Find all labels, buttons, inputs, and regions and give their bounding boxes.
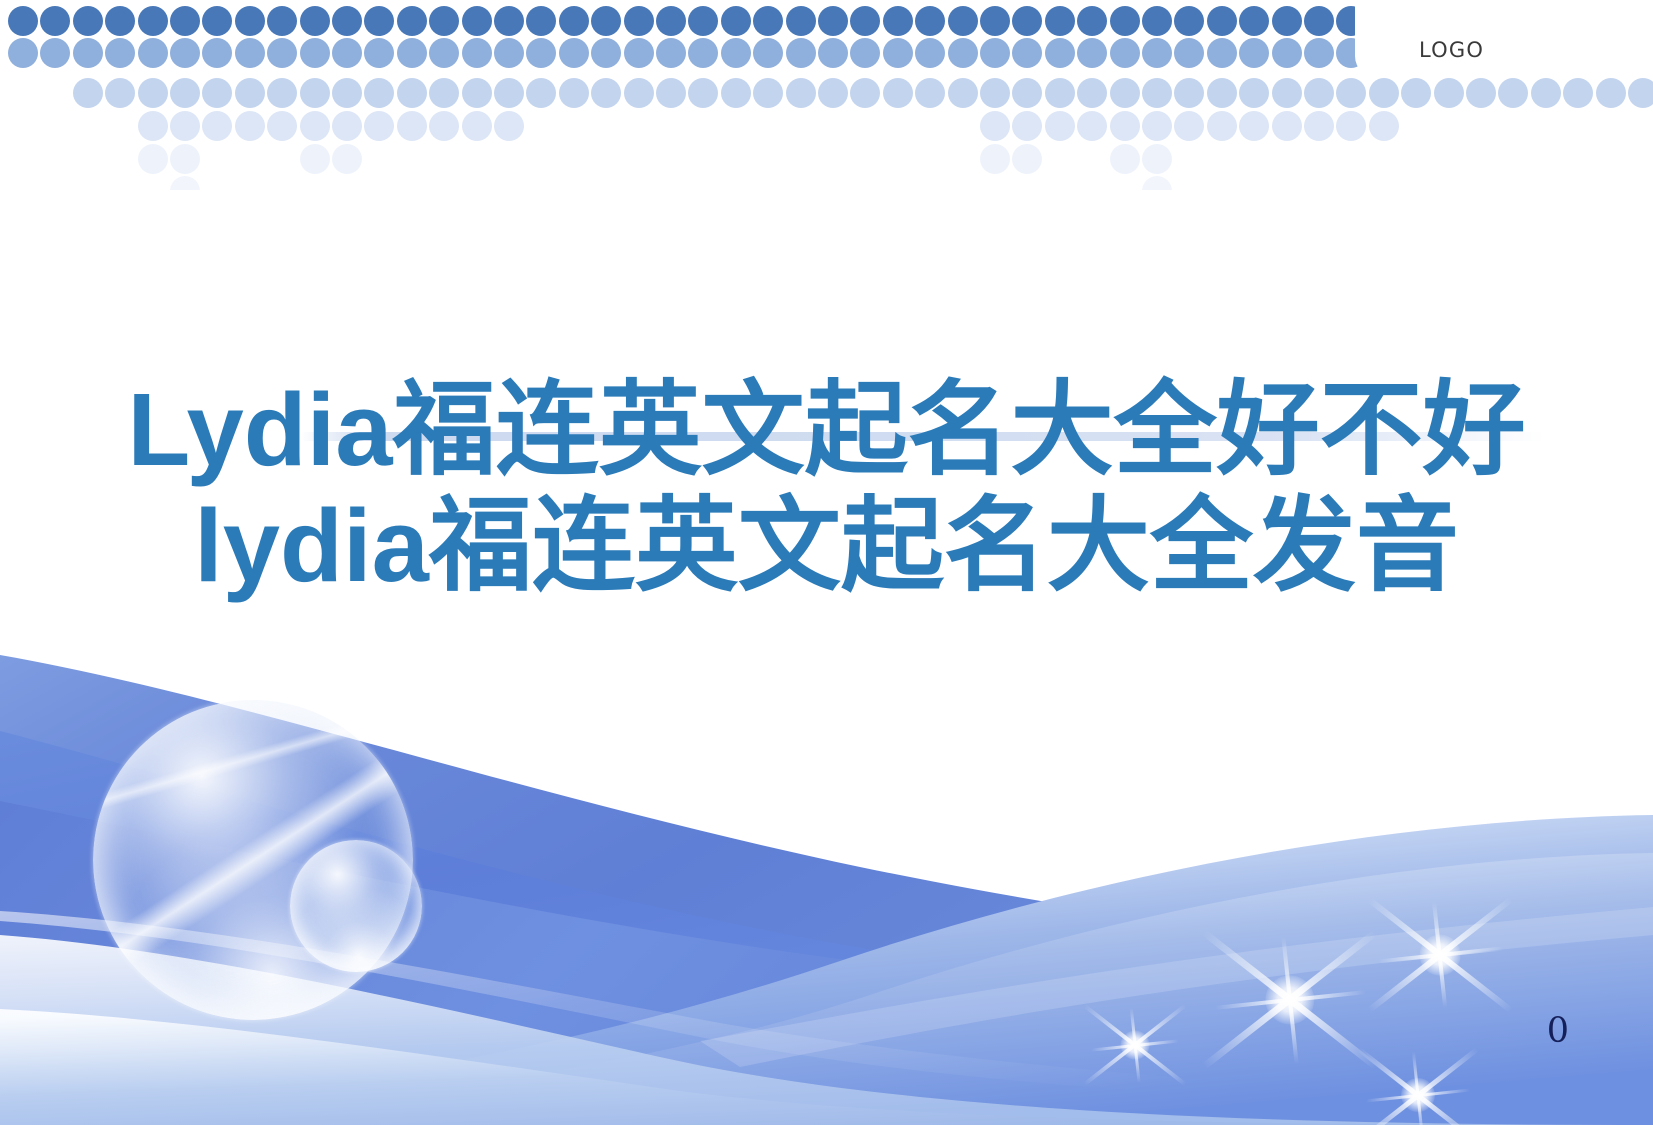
- decorative-dot: [1045, 6, 1075, 36]
- decorative-dot: [948, 78, 978, 108]
- decorative-dot: [73, 38, 103, 68]
- title-line-2: lydia福连英文起名大全发音: [0, 488, 1653, 604]
- decorative-dot: [526, 6, 556, 36]
- decorative-dot: [332, 38, 362, 68]
- decorative-dot: [1077, 38, 1107, 68]
- decorative-dot: [300, 111, 330, 141]
- decorative-dot: [883, 38, 913, 68]
- decorative-dot: [73, 6, 103, 36]
- decorative-dot: [1077, 111, 1107, 141]
- decorative-dot: [1142, 176, 1172, 190]
- decorative-dot: [526, 38, 556, 68]
- decorative-dot: [397, 38, 427, 68]
- decorative-dot: [786, 78, 816, 108]
- decorative-dot: [364, 111, 394, 141]
- decorative-dot: [1239, 38, 1269, 68]
- decorative-dot: [1596, 78, 1626, 108]
- decorative-dot: [980, 111, 1010, 141]
- decorative-dot: [1012, 6, 1042, 36]
- glass-bubble-small: [290, 840, 422, 972]
- decorative-dot: [688, 38, 718, 68]
- decorative-dot: [267, 38, 297, 68]
- decorative-dot: [948, 6, 978, 36]
- decorative-dot: [138, 78, 168, 108]
- decorative-dot: [202, 6, 232, 36]
- decorative-dot: [688, 6, 718, 36]
- decorative-dot: [267, 111, 297, 141]
- decorative-dot: [1045, 111, 1075, 141]
- decorative-dot: [202, 38, 232, 68]
- decorative-dot: [1142, 111, 1172, 141]
- decorative-dot: [688, 78, 718, 108]
- logo-placeholder[interactable]: LOGO: [1355, 0, 1653, 78]
- decorative-dot: [850, 38, 880, 68]
- decorative-dot: [300, 38, 330, 68]
- decorative-dot: [494, 6, 524, 36]
- decorative-dot: [1012, 111, 1042, 141]
- decorative-dot: [1336, 78, 1366, 108]
- decorative-dot: [1077, 78, 1107, 108]
- decorative-dot: [1628, 78, 1653, 108]
- title-line-1: Lydia福连英文起名大全好不好: [0, 372, 1653, 488]
- decorative-dot: [1045, 38, 1075, 68]
- decorative-dot: [300, 144, 330, 174]
- decorative-dot: [267, 6, 297, 36]
- decorative-dot: [786, 6, 816, 36]
- decorative-dot: [1142, 6, 1172, 36]
- decorative-dot: [1110, 78, 1140, 108]
- decorative-dot: [138, 111, 168, 141]
- slide-canvas: LOGO Lydia福连英文起名大全好不好 lydia福连英文起名大全发音: [0, 0, 1653, 1125]
- decorative-dot: [818, 6, 848, 36]
- decorative-dot: [1369, 78, 1399, 108]
- decorative-dot: [8, 38, 38, 68]
- decorative-dot: [1466, 78, 1496, 108]
- decorative-dot: [494, 111, 524, 141]
- decorative-dot: [1045, 78, 1075, 108]
- decorative-dot: [1272, 6, 1302, 36]
- decorative-dot: [332, 6, 362, 36]
- decorative-dot: [1304, 38, 1334, 68]
- decorative-dot: [138, 144, 168, 174]
- decorative-dot: [1142, 144, 1172, 174]
- decorative-dot: [624, 38, 654, 68]
- decorative-dot: [170, 78, 200, 108]
- decorative-dot: [332, 144, 362, 174]
- decorative-dot: [332, 111, 362, 141]
- decorative-dot: [818, 78, 848, 108]
- decorative-dot: [721, 78, 751, 108]
- decorative-dot: [267, 78, 297, 108]
- decorative-dot: [624, 78, 654, 108]
- decorative-dot: [397, 78, 427, 108]
- decorative-dot: [1012, 144, 1042, 174]
- decorative-dot: [1012, 38, 1042, 68]
- decorative-dot: [235, 38, 265, 68]
- decorative-dot: [138, 38, 168, 68]
- decorative-dot: [364, 38, 394, 68]
- decorative-dot: [559, 6, 589, 36]
- decorative-dot: [1110, 6, 1140, 36]
- decorative-dot: [850, 6, 880, 36]
- decorative-dot: [624, 6, 654, 36]
- decorative-dot: [170, 6, 200, 36]
- decorative-dot: [559, 78, 589, 108]
- decorative-dot: [1272, 78, 1302, 108]
- decorative-dot: [1174, 111, 1204, 141]
- decorative-dot: [1239, 111, 1269, 141]
- decorative-dot: [1012, 78, 1042, 108]
- decorative-dot: [1142, 38, 1172, 68]
- decorative-dot: [1207, 78, 1237, 108]
- decorative-dot: [526, 78, 556, 108]
- decorative-dot: [300, 78, 330, 108]
- decorative-dot: [1434, 78, 1464, 108]
- logo-label: LOGO: [1419, 38, 1484, 62]
- decorative-dot: [656, 6, 686, 36]
- decorative-dot: [1272, 38, 1302, 68]
- decorative-dot: [1207, 111, 1237, 141]
- decorative-dot: [1304, 78, 1334, 108]
- decorative-dot: [8, 6, 38, 36]
- decorative-dot: [1207, 38, 1237, 68]
- decorative-dot: [1239, 6, 1269, 36]
- decorative-dot: [1142, 78, 1172, 108]
- decorative-dot: [40, 6, 70, 36]
- decorative-dot: [429, 111, 459, 141]
- decorative-dot: [1110, 111, 1140, 141]
- decorative-dot: [915, 38, 945, 68]
- decorative-dot: [429, 78, 459, 108]
- decorative-dot: [73, 78, 103, 108]
- decorative-dot: [397, 6, 427, 36]
- decorative-dot: [462, 78, 492, 108]
- decorative-dot: [1110, 144, 1140, 174]
- decorative-dot: [1174, 38, 1204, 68]
- decorative-dot: [591, 38, 621, 68]
- decorative-dot: [397, 111, 427, 141]
- decorative-dot: [980, 144, 1010, 174]
- decorative-dot: [429, 6, 459, 36]
- decorative-dot: [170, 38, 200, 68]
- decorative-dot: [948, 38, 978, 68]
- decorative-dot: [40, 38, 70, 68]
- page-title: Lydia福连英文起名大全好不好 lydia福连英文起名大全发音: [0, 372, 1653, 604]
- decorative-dot: [462, 6, 492, 36]
- decorative-dot: [1498, 78, 1528, 108]
- decorative-dot: [170, 144, 200, 174]
- decorative-dot: [1531, 78, 1561, 108]
- decorative-dot: [332, 78, 362, 108]
- decorative-dot: [105, 78, 135, 108]
- decorative-dot: [753, 38, 783, 68]
- decorative-dot: [1174, 78, 1204, 108]
- decorative-dot: [1272, 111, 1302, 141]
- title-underline-decoration: [300, 432, 1545, 441]
- decorative-dot: [138, 6, 168, 36]
- decorative-dot: [915, 78, 945, 108]
- decorative-dot: [883, 6, 913, 36]
- decorative-dot: [591, 6, 621, 36]
- decorative-dot: [980, 78, 1010, 108]
- decorative-dot: [1369, 111, 1399, 141]
- decorative-dot: [1239, 78, 1269, 108]
- decorative-dot: [1110, 38, 1140, 68]
- decorative-dot: [786, 38, 816, 68]
- decorative-dot: [202, 78, 232, 108]
- decorative-dot: [235, 111, 265, 141]
- decorative-dot: [980, 6, 1010, 36]
- decorative-dot: [1336, 111, 1366, 141]
- decorative-dot: [1077, 6, 1107, 36]
- decorative-dot: [883, 78, 913, 108]
- decorative-dot: [494, 38, 524, 68]
- decorative-dot: [235, 78, 265, 108]
- decorative-dot: [364, 6, 394, 36]
- decorative-dot: [721, 38, 751, 68]
- decorative-dot: [1207, 6, 1237, 36]
- decorative-dot: [1304, 6, 1334, 36]
- page-number: 0: [1547, 1011, 1569, 1051]
- decorative-dot: [1174, 6, 1204, 36]
- decorative-dot: [850, 78, 880, 108]
- decorative-dot: [753, 6, 783, 36]
- decorative-dot: [1304, 111, 1334, 141]
- decorative-dot: [494, 78, 524, 108]
- decorative-dot: [462, 38, 492, 68]
- decorative-dot: [364, 78, 394, 108]
- decorative-dot: [753, 78, 783, 108]
- decorative-dot: [721, 6, 751, 36]
- decorative-dot: [105, 6, 135, 36]
- decorative-dot: [1401, 78, 1431, 108]
- decorative-dot: [656, 38, 686, 68]
- decorative-dot: [105, 38, 135, 68]
- decorative-dot: [591, 78, 621, 108]
- decorative-dot: [559, 38, 589, 68]
- decorative-dot: [235, 6, 265, 36]
- decorative-dot: [980, 38, 1010, 68]
- decorative-dot: [300, 6, 330, 36]
- decorative-dot: [462, 111, 492, 141]
- decorative-dot: [202, 111, 232, 141]
- decorative-dot: [429, 38, 459, 68]
- decorative-dot: [170, 111, 200, 141]
- decorative-dot: [818, 38, 848, 68]
- decorative-dot: [915, 6, 945, 36]
- decorative-dot: [656, 78, 686, 108]
- decorative-dot: [170, 176, 200, 190]
- decorative-dot: [1563, 78, 1593, 108]
